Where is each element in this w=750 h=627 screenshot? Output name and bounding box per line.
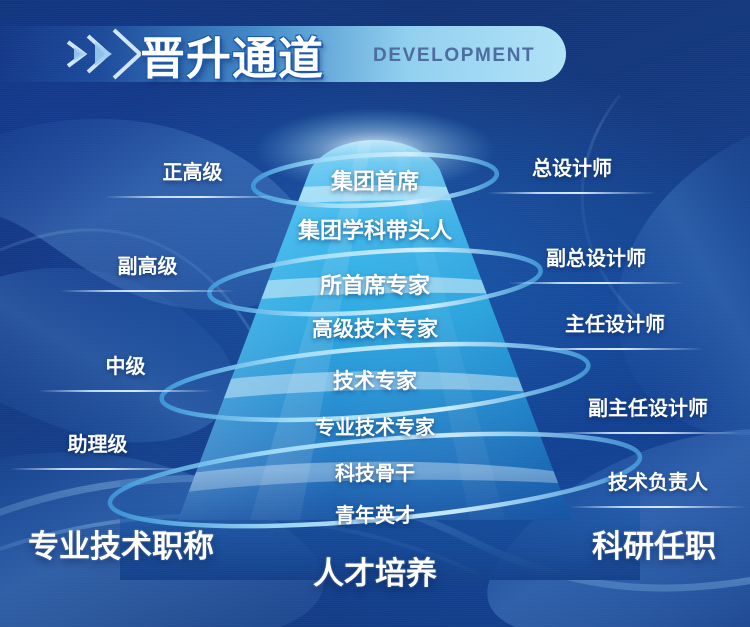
left-level-item: 副高级 bbox=[60, 250, 235, 292]
divider bbox=[105, 196, 280, 198]
right-role-label: 技术负责人 bbox=[570, 466, 746, 495]
pyramid-item: 技术专家 bbox=[185, 365, 565, 395]
promotion-pathway-infographic: 晋升通道 DEVELOPMENT 集团首席 集团学科带头人 所首席专家 高级技术… bbox=[0, 0, 750, 627]
left-level-item: 助理级 bbox=[10, 428, 185, 470]
right-role-label: 副主任设计师 bbox=[555, 392, 741, 421]
left-level-label: 副高级 bbox=[60, 250, 235, 279]
pyramid-item: 高级技术专家 bbox=[185, 313, 565, 343]
left-level-item: 中级 bbox=[38, 350, 213, 392]
right-role-label: 副总设计师 bbox=[508, 242, 684, 271]
pyramid-item: 青年英才 bbox=[185, 499, 565, 528]
right-role-item: 总设计师 bbox=[488, 152, 656, 194]
divider bbox=[38, 390, 213, 392]
pyramid-item: 专业技术专家 bbox=[185, 411, 565, 440]
divider bbox=[60, 290, 235, 292]
divider bbox=[555, 432, 741, 434]
pyramid-item: 科技骨干 bbox=[185, 457, 565, 486]
right-role-item: 副总设计师 bbox=[508, 242, 684, 284]
pyramid-item: 集团学科带头人 bbox=[185, 213, 565, 245]
center-column-title: 人才培养 bbox=[313, 548, 437, 593]
left-level-label: 中级 bbox=[38, 350, 213, 379]
right-role-item: 主任设计师 bbox=[527, 308, 703, 350]
divider bbox=[570, 506, 746, 508]
left-level-label: 正高级 bbox=[105, 156, 280, 185]
right-role-item: 技术负责人 bbox=[570, 466, 746, 508]
center-column: 集团首席 集团学科带头人 所首席专家 高级技术专家 技术专家 专业技术专家 科技… bbox=[185, 0, 565, 627]
divider bbox=[508, 282, 684, 284]
left-level-label: 助理级 bbox=[10, 428, 185, 457]
right-role-item: 副主任设计师 bbox=[555, 392, 741, 434]
divider bbox=[10, 468, 185, 470]
right-role-label: 主任设计师 bbox=[527, 308, 703, 337]
left-level-item: 正高级 bbox=[105, 156, 280, 198]
divider bbox=[527, 348, 703, 350]
right-role-label: 总设计师 bbox=[488, 152, 656, 181]
right-column-title: 科研任职 bbox=[592, 521, 716, 566]
left-column-title: 专业技术职称 bbox=[28, 521, 214, 566]
divider bbox=[488, 192, 656, 194]
